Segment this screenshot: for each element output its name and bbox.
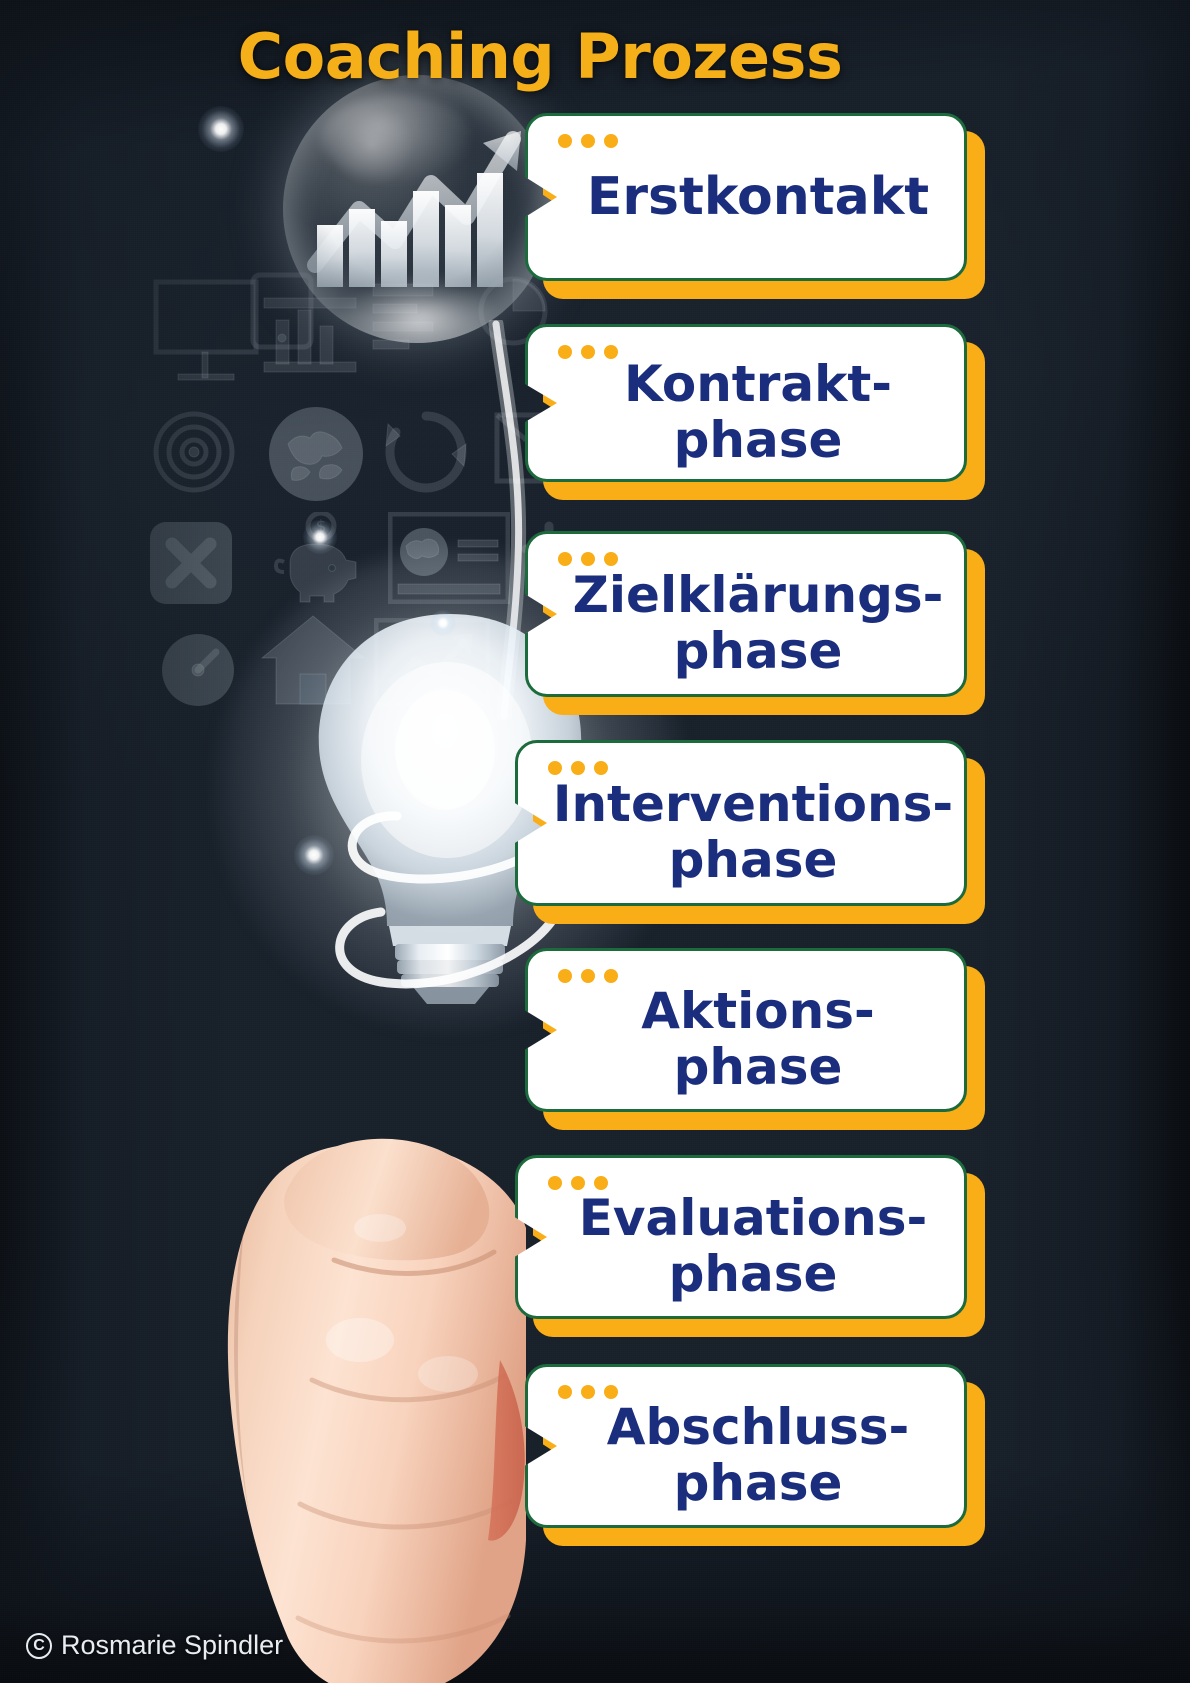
process-step-card[interactable]: Abschluss- phase [525,1364,985,1546]
process-step-card[interactable]: Kontrakt- phase [525,324,985,500]
dot-icon [581,552,595,566]
step-label: Evaluations- phase [533,1172,949,1302]
card-dots [558,1385,618,1399]
copyright-icon: C [26,1633,52,1659]
dot-icon [581,134,595,148]
card-dots [558,969,618,983]
dot-icon [604,1385,618,1399]
dot-icon [571,761,585,775]
card-surface: Aktions- phase [525,948,967,1112]
card-surface: Abschluss- phase [525,1364,967,1528]
card-surface: Erstkontakt [525,113,967,281]
dot-icon [581,969,595,983]
dot-icon [558,345,572,359]
step-label: Kontrakt- phase [578,338,914,468]
dot-icon [558,1385,572,1399]
dot-icon [581,345,595,359]
dot-icon [604,552,618,566]
dot-icon [548,1176,562,1190]
process-step-card[interactable]: Evaluations- phase [515,1155,985,1337]
dot-icon [594,761,608,775]
step-label: Zielklärungs- phase [527,549,966,679]
dot-icon [571,1176,585,1190]
step-label: Abschluss- phase [561,1381,932,1511]
process-step-card[interactable]: Zielklärungs- phase [525,531,985,715]
dot-icon [604,134,618,148]
card-dots [558,345,618,359]
process-step-card[interactable]: Erstkontakt [525,113,985,299]
card-dots [558,552,618,566]
step-label: Erstkontakt [541,168,951,226]
process-step-card[interactable]: Aktions- phase [525,948,985,1130]
copyright-footer: C Rosmarie Spindler [26,1630,283,1661]
card-surface: Kontrakt- phase [525,324,967,482]
dot-icon [604,969,618,983]
card-dots [558,134,618,148]
step-label: Interventions- phase [507,758,975,888]
author-name: Rosmarie Spindler [61,1630,283,1661]
page-title: Coaching Prozess [0,20,1080,93]
card-surface: Zielklärungs- phase [525,531,967,697]
dot-icon [558,134,572,148]
dot-icon [604,345,618,359]
dot-icon [594,1176,608,1190]
card-dots [548,1176,608,1190]
infographic-poster: $ [0,0,1190,1683]
dot-icon [558,552,572,566]
dot-icon [558,969,572,983]
process-step-card[interactable]: Interventions- phase [515,740,985,924]
card-surface: Evaluations- phase [515,1155,967,1319]
dot-icon [548,761,562,775]
process-steps-list: Erstkontakt Kontrakt- phase [0,0,1190,1683]
card-surface: Interventions- phase [515,740,967,906]
dot-icon [581,1385,595,1399]
step-label: Aktions- phase [595,965,896,1095]
card-dots [548,761,608,775]
